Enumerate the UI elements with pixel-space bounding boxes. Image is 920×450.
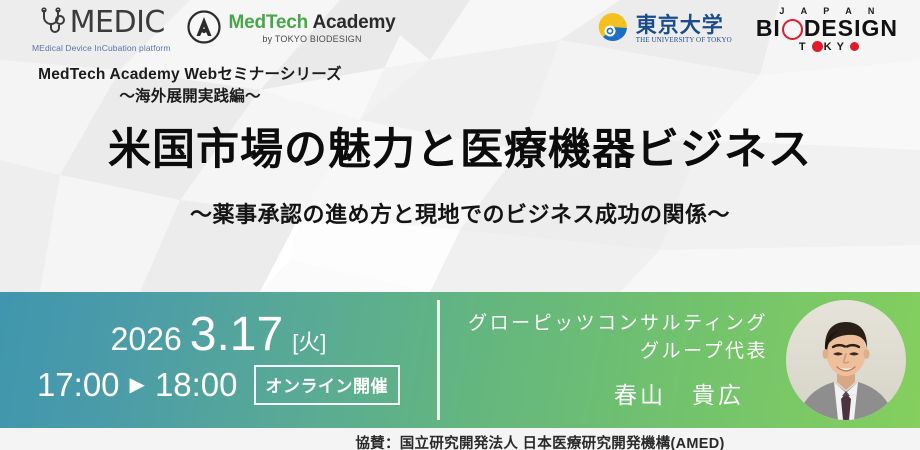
event-month-day: 3.17: [190, 311, 283, 359]
event-datetime-block: 2026 3.17 [火] 17:00 ▶ 18:00 オンライン開催: [0, 292, 437, 428]
speaker-org-line1: グローピッツコンサルティング: [468, 310, 768, 338]
medtech-academy-byline: by TOKYO BIODESIGN: [229, 35, 396, 44]
biodesign-tokyo-pre: T: [799, 41, 811, 53]
logo-group-left: MEDIC MEdical Device InCubation platform: [32, 6, 396, 53]
utokyo-logo: 東京大学 THE UNIVERSITY OF TOKYO: [597, 11, 732, 48]
medic-logo: MEDIC MEdical Device InCubation platform: [32, 6, 171, 53]
avatar: [786, 300, 906, 420]
event-date-row: 2026 3.17 [火]: [111, 311, 327, 359]
utokyo-name-en: THE UNIVERSITY OF TOKYO: [636, 37, 732, 44]
event-time-row: 17:00 ▶ 18:00 オンライン開催: [37, 365, 400, 405]
utokyo-name-jp: 東京大学: [636, 14, 732, 35]
logo-bar: MEDIC MEdical Device InCubation platform: [0, 0, 920, 58]
medtech-academy-logo: MedTech Academy by TOKYO BIODESIGN: [187, 10, 396, 49]
speaker-name: 春山 貴広: [614, 376, 744, 410]
speaker-block: グローピッツコンサルティング グループ代表 春山 貴広: [440, 292, 920, 428]
series-heading-line2: 〜海外展開実践編〜: [0, 86, 380, 108]
event-year: 2026: [111, 321, 182, 358]
title-block: 米国市場の魅力と医療機器ビジネス 〜薬事承認の進め方と現地でのビジネス成功の関係…: [0, 126, 920, 229]
biodesign-main-pre: BI: [756, 17, 781, 40]
medtech-mark-icon: [187, 10, 221, 49]
page-title: 米国市場の魅力と医療機器ビジネス: [0, 126, 920, 175]
medic-tagline: MEdical Device InCubation platform: [32, 43, 171, 53]
series-heading: MedTech Academy Webセミナーシリーズ 〜海外展開実践編〜: [0, 64, 380, 109]
page-subtitle: 〜薬事承認の進め方と現地でのビジネス成功の関係〜: [0, 197, 920, 229]
medtech-academy-name-part2: Academy: [312, 12, 395, 33]
japan-biodesign-logo: J A P A N BI DESIGN T KY: [756, 6, 898, 53]
logo-group-right: 東京大学 THE UNIVERSITY OF TOKYO J A P A N B…: [597, 6, 898, 53]
medtech-academy-name-part1: MedTech: [229, 12, 309, 33]
stethoscope-icon: [38, 6, 68, 41]
biodesign-o-ring-icon: [782, 19, 803, 40]
event-day-of-week: [火]: [292, 325, 326, 357]
sponsor-line: 協賛：国立研究開発法人 日本医療研究開発機構(AMED): [0, 432, 920, 450]
event-time-end: 18:00: [155, 366, 238, 404]
webinar-poster: MEDIC MEdical Device InCubation platform: [0, 0, 920, 450]
utokyo-emblem-icon: [597, 11, 629, 48]
biodesign-tokyo-mid: KY: [824, 41, 849, 53]
arrow-right-icon: ▶: [130, 375, 145, 395]
medic-wordmark: MEDIC: [70, 8, 165, 38]
speaker-organization: グローピッツコンサルティング グループ代表: [468, 310, 768, 365]
biodesign-japan-line: J A P A N: [772, 6, 881, 16]
event-time-start: 17:00: [37, 366, 120, 404]
series-heading-line1: MedTech Academy Webセミナーシリーズ: [0, 64, 380, 86]
status-badge: オンライン開催: [254, 365, 401, 405]
biodesign-main-post: DESIGN: [804, 17, 898, 40]
biodesign-dot-icon-1: [812, 41, 823, 52]
speaker-org-line2: グループ代表: [468, 338, 768, 366]
biodesign-dot-icon-2: [850, 42, 859, 51]
